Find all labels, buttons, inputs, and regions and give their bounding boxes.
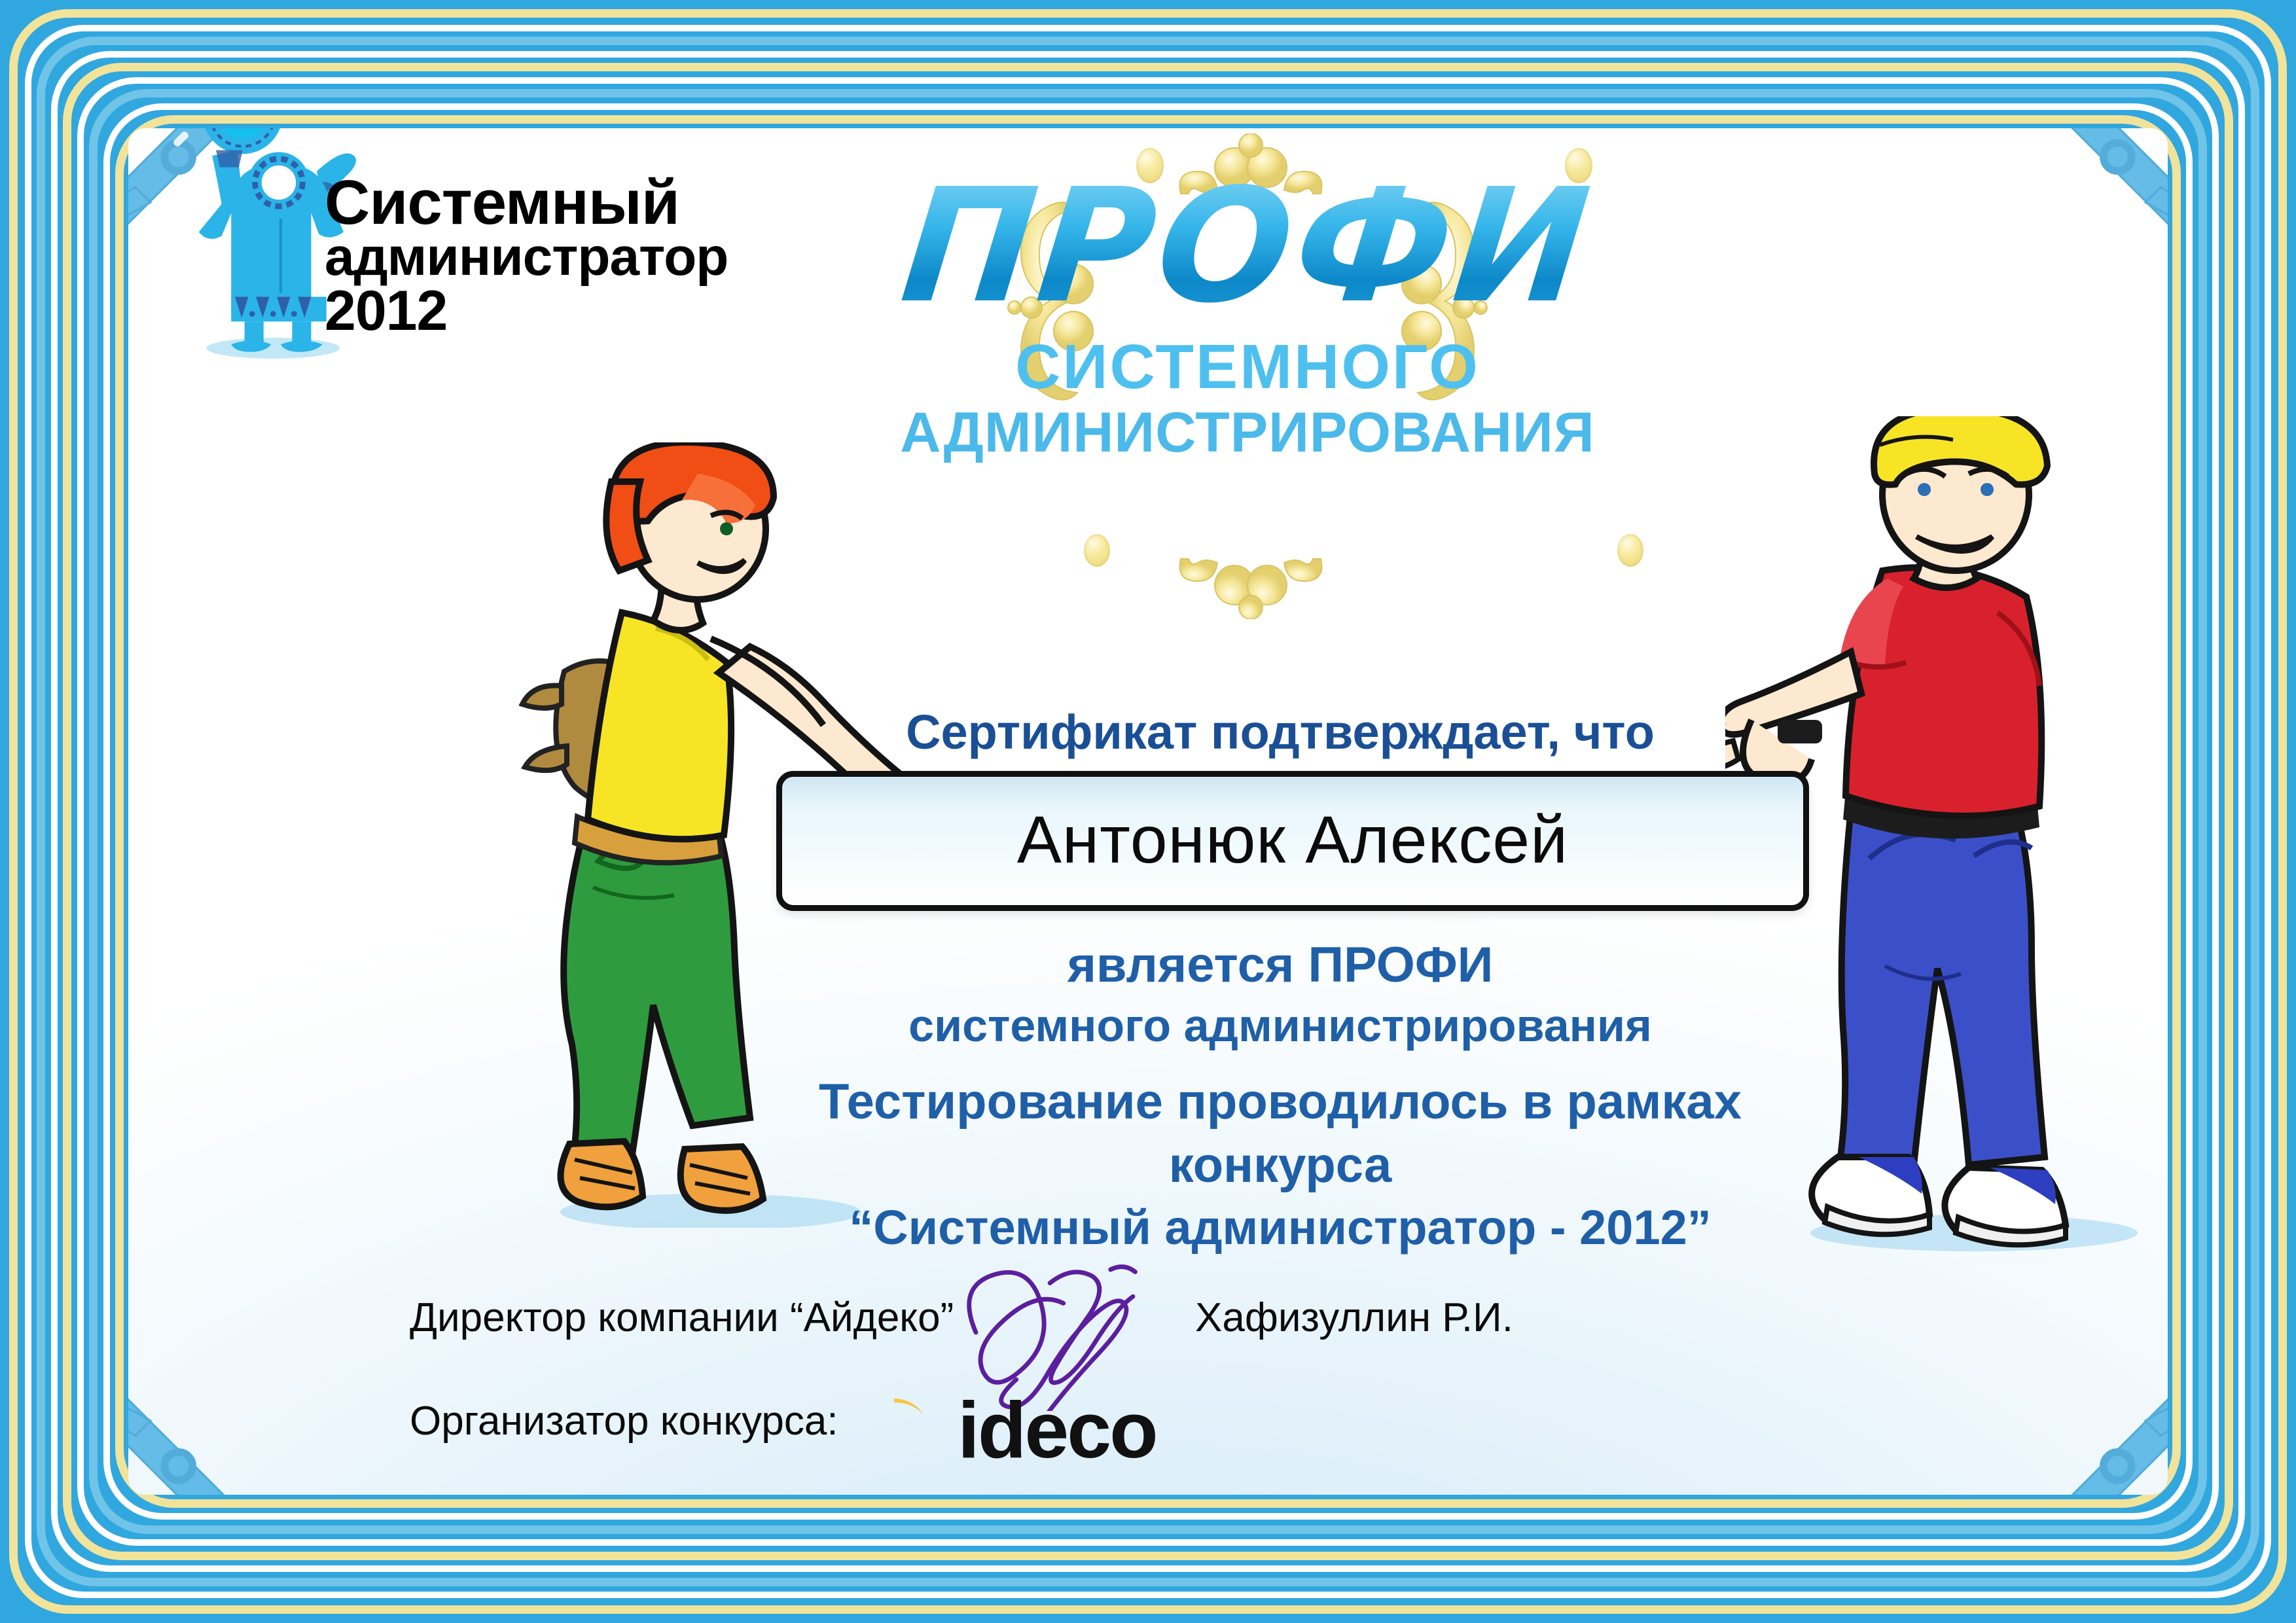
ice-skate-icon bbox=[2029, 1349, 2168, 1495]
certificate-page: Системный администратор 2012 bbox=[0, 0, 2296, 1623]
partners-logos: KASPERSKY lab Sky DNS Системный а bbox=[802, 1489, 2157, 1495]
ideco-wordmark: ideco bbox=[958, 1390, 1157, 1478]
body-line-2: системного администрирования bbox=[717, 997, 1843, 1056]
logo-line-3: 2012 bbox=[325, 283, 691, 339]
sysadmin-2012-logo: Системный администратор 2012 bbox=[128, 128, 691, 410]
confirm-text: Сертификат подтверждает, что bbox=[750, 704, 1810, 760]
signature-label: Директор компании “Айдеко” bbox=[410, 1294, 954, 1341]
gold-dot-icon bbox=[1084, 534, 1110, 567]
body-line-4: “Системный администратор - 2012” bbox=[717, 1197, 1843, 1259]
ice-skate-icon bbox=[128, 1349, 267, 1495]
signatory-name: Хафизуллин Р.И. bbox=[1195, 1294, 1513, 1341]
title-subtitle-1: системного bbox=[809, 331, 1686, 403]
gold-dot-icon bbox=[1617, 534, 1643, 567]
certificate-body-text: является ПРОФИ системного администрирова… bbox=[717, 933, 1843, 1259]
gold-flourish-icon bbox=[1175, 547, 1326, 619]
ideco-logo: ideco bbox=[845, 1372, 1172, 1495]
body-line-1: является ПРОФИ bbox=[717, 933, 1843, 997]
logo-line-2: администратор bbox=[325, 232, 691, 283]
certificate-body: Системный администратор 2012 bbox=[128, 128, 2168, 1495]
recipient-nameplate: Антонюк Алексей bbox=[776, 771, 1809, 911]
logo-line-1: Системный bbox=[325, 174, 691, 232]
ideco-ring-icon bbox=[845, 1385, 943, 1483]
ice-skate-icon bbox=[2029, 128, 2168, 274]
recipient-name: Антонюк Алексей bbox=[782, 802, 1803, 881]
body-line-3: Тестирование проводилось в рамках конкур… bbox=[717, 1070, 1843, 1198]
organizer-label: Организатор конкурса: bbox=[410, 1398, 838, 1444]
title-profi: ПРОФИ bbox=[800, 168, 1694, 325]
